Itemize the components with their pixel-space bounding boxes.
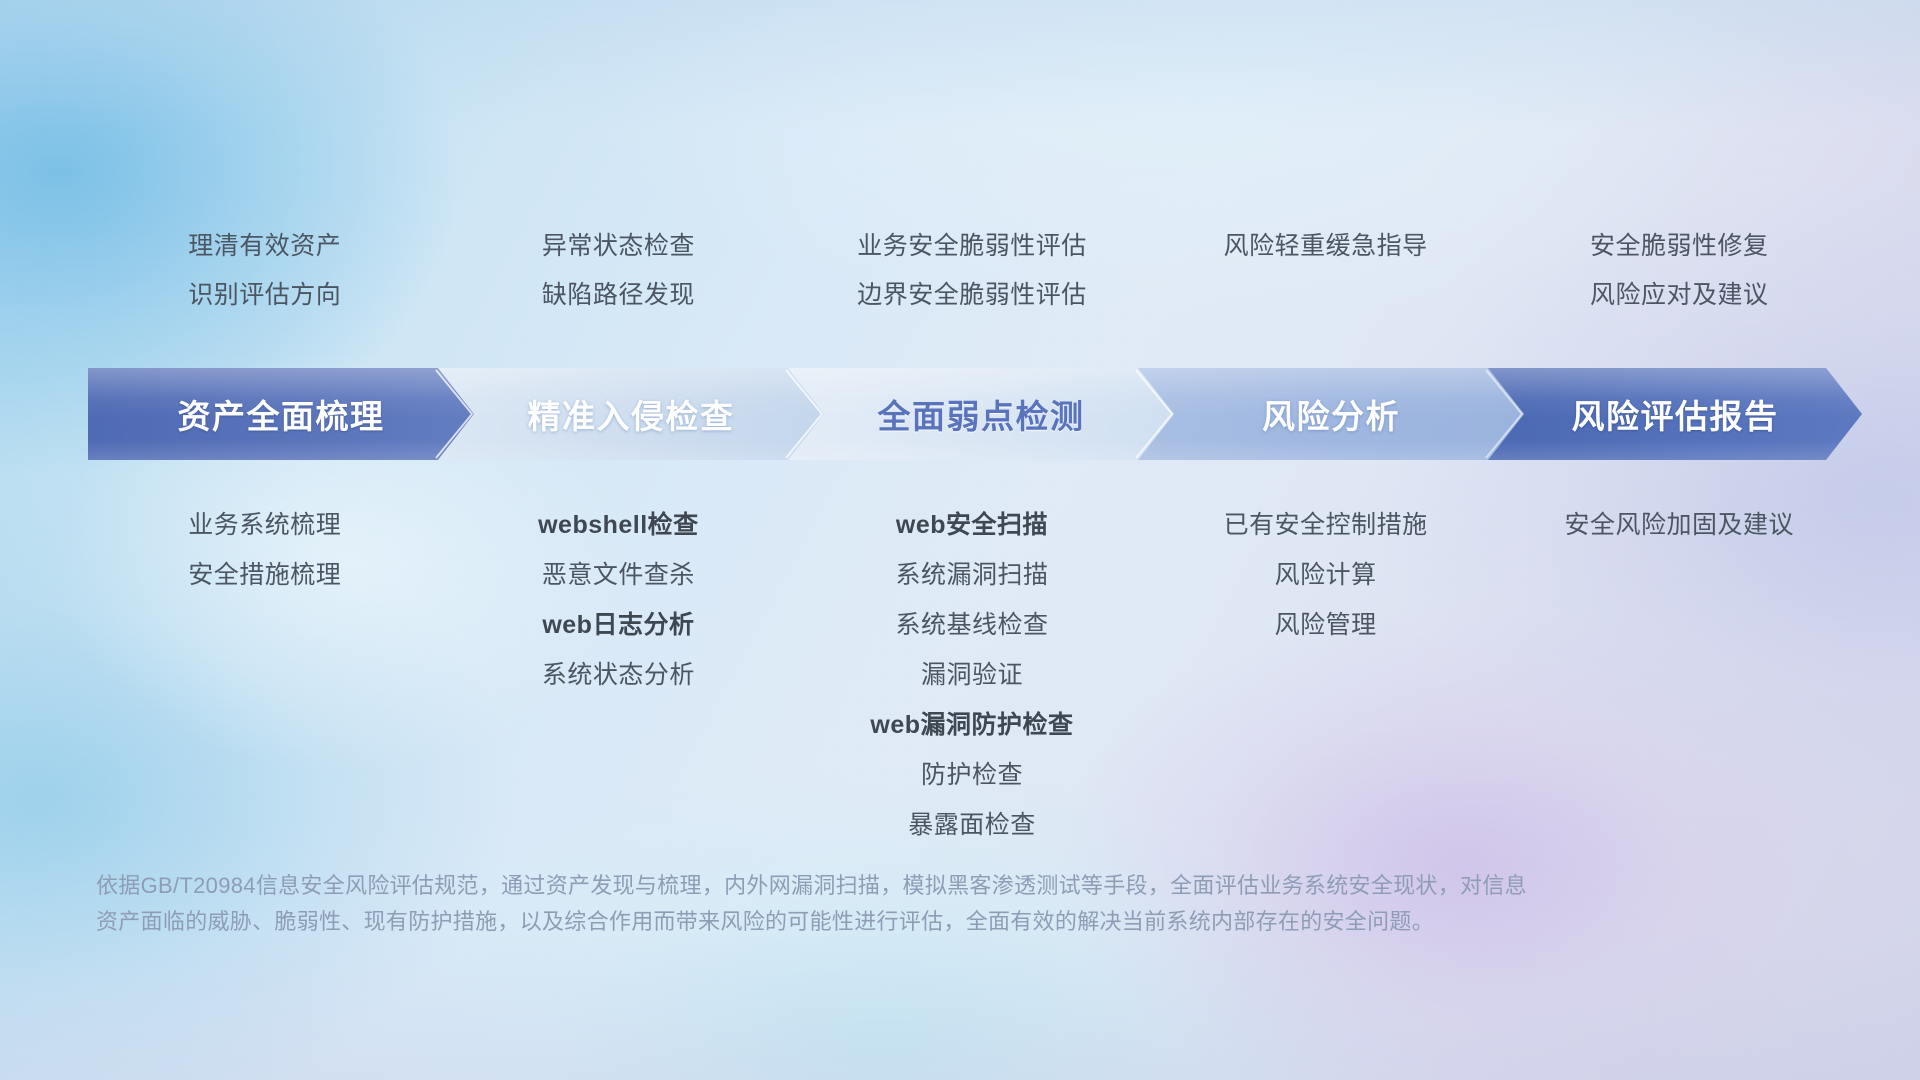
output-line: web日志分析 <box>442 600 796 650</box>
stage-inputs-weakness-detection: 业务安全脆弱性评估 边界安全脆弱性评估 <box>795 222 1149 320</box>
stage-arrow-risk-analysis[interactable]: 风险分析 <box>1138 368 1524 460</box>
stage-outputs-assessment-report: 安全风险加固及建议 <box>1502 500 1856 850</box>
stage-outputs-weakness-detection: web安全扫描 系统漏洞扫描 系统基线检查 漏洞验证 web漏洞防护检查 防护检… <box>795 500 1149 850</box>
stage-arrow-weakness-detection[interactable]: 全面弱点检测 <box>788 368 1174 460</box>
stage-inputs-risk-analysis: 风险轻重缓急指导 <box>1149 222 1503 320</box>
output-line: 恶意文件查杀 <box>442 550 796 600</box>
footer-line: 依据GB/T20984信息安全风险评估规范，通过资产发现与梳理，内外网漏洞扫描，… <box>96 868 1626 904</box>
stage-outputs-risk-analysis: 已有安全控制措施 风险计算 风险管理 <box>1149 500 1503 850</box>
stage-arrow-label: 资产全面梳理 <box>178 390 385 438</box>
stage-arrow-label: 风险分析 <box>1262 390 1400 438</box>
input-line: 识别评估方向 <box>88 271 442 320</box>
input-line: 异常状态检查 <box>442 222 796 271</box>
input-line: 业务安全脆弱性评估 <box>795 222 1149 271</box>
stage-arrow-label: 风险评估报告 <box>1572 390 1779 438</box>
output-line: 风险计算 <box>1149 550 1503 600</box>
output-line: web安全扫描 <box>795 500 1149 550</box>
output-line: 防护检查 <box>795 750 1149 800</box>
output-line: web漏洞防护检查 <box>795 700 1149 750</box>
output-line: 暴露面检查 <box>795 800 1149 850</box>
footer-description: 依据GB/T20984信息安全风险评估规范，通过资产发现与梳理，内外网漏洞扫描，… <box>96 868 1626 940</box>
stage-inputs-assessment-report: 安全脆弱性修复 风险应对及建议 <box>1502 222 1856 320</box>
output-line: 系统基线检查 <box>795 600 1149 650</box>
stage-outputs-asset-inventory: 业务系统梳理 安全措施梳理 <box>88 500 442 850</box>
stage-arrow-label: 全面弱点检测 <box>878 390 1085 438</box>
slide-canvas: 理清有效资产 识别评估方向 异常状态检查 缺陷路径发现 业务安全脆弱性评估 边界… <box>0 0 1920 1080</box>
process-arrow-band: 资产全面梳理 精准入侵检查 全面弱点检测 风险分析 风险评估报告 <box>88 368 1862 460</box>
input-line: 缺陷路径发现 <box>442 271 796 320</box>
output-line: 风险管理 <box>1149 600 1503 650</box>
input-line: 风险应对及建议 <box>1502 271 1856 320</box>
output-line: 已有安全控制措施 <box>1149 500 1503 550</box>
input-line: 边界安全脆弱性评估 <box>795 271 1149 320</box>
input-line: 风险轻重缓急指导 <box>1149 222 1503 271</box>
stage-inputs-row: 理清有效资产 识别评估方向 异常状态检查 缺陷路径发现 业务安全脆弱性评估 边界… <box>88 222 1856 320</box>
stage-arrow-asset-inventory[interactable]: 资产全面梳理 <box>88 368 474 460</box>
slide-content: 理清有效资产 识别评估方向 异常状态检查 缺陷路径发现 业务安全脆弱性评估 边界… <box>0 0 1920 1080</box>
input-line: 理清有效资产 <box>88 222 442 271</box>
output-line: 安全风险加固及建议 <box>1502 500 1856 550</box>
stage-arrow-intrusion-check[interactable]: 精准入侵检查 <box>438 368 824 460</box>
footer-line: 资产面临的威胁、脆弱性、现有防护措施，以及综合作用而带来风险的可能性进行评估，全… <box>96 904 1626 940</box>
output-line: 业务系统梳理 <box>88 500 442 550</box>
stage-outputs-row: 业务系统梳理 安全措施梳理 webshell检查 恶意文件查杀 web日志分析 … <box>88 500 1856 850</box>
input-line: 安全脆弱性修复 <box>1502 222 1856 271</box>
output-line: 系统状态分析 <box>442 650 796 700</box>
stage-outputs-intrusion-check: webshell检查 恶意文件查杀 web日志分析 系统状态分析 <box>442 500 796 850</box>
output-line: webshell检查 <box>442 500 796 550</box>
stage-arrow-assessment-report[interactable]: 风险评估报告 <box>1488 368 1862 460</box>
stage-arrow-label: 精准入侵检查 <box>528 390 735 438</box>
stage-inputs-asset-inventory: 理清有效资产 识别评估方向 <box>88 222 442 320</box>
output-line: 系统漏洞扫描 <box>795 550 1149 600</box>
output-line: 安全措施梳理 <box>88 550 442 600</box>
stage-inputs-intrusion-check: 异常状态检查 缺陷路径发现 <box>442 222 796 320</box>
output-line: 漏洞验证 <box>795 650 1149 700</box>
